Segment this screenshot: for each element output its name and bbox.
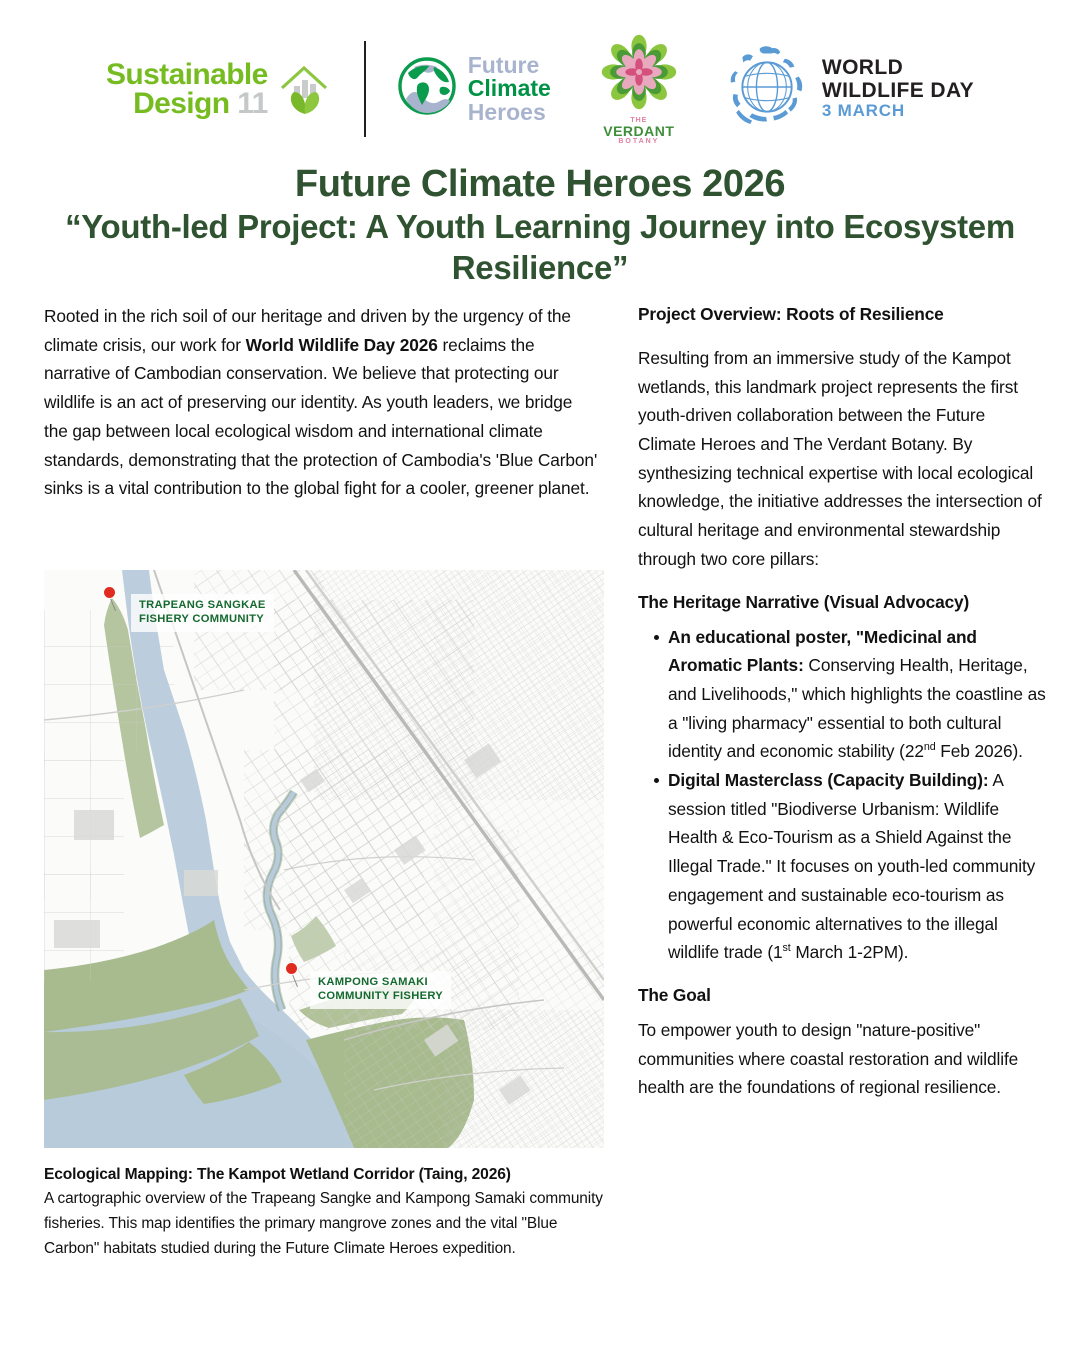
logo-divider [364, 41, 366, 137]
logo-the-verdant-botany: THE VERDANT BOTANY [601, 34, 723, 145]
map-graphic [44, 570, 604, 1148]
wwd-globe-animals-icon [723, 43, 811, 136]
overview-body: Resulting from an immersive study of the… [638, 344, 1046, 574]
page-title: Future Climate Heroes 2026 “Youth-led Pr… [60, 162, 1020, 289]
wwd-wordmark: WORLD WILDLIFE DAY 3 MARCH [822, 57, 974, 121]
logo-bar: Sustainable Design 11 [0, 34, 1080, 144]
heritage-heading: The Heritage Narrative (Visual Advocacy) [638, 590, 1046, 616]
intro-paragraph: Rooted in the rich soil of our heritage … [44, 302, 600, 503]
title-line-1: Future Climate Heroes 2026 [60, 162, 1020, 207]
fch-line3: Heroes [468, 101, 551, 124]
overview-heading: Project Overview: Roots of Resilience [638, 302, 1046, 328]
fch-line2: Climate [468, 77, 551, 100]
poster-page: Sustainable Design 11 [0, 0, 1080, 1350]
title-line-2: “Youth-led Project: A Youth Learning Jou… [60, 207, 1020, 289]
fch-wordmark: Future Climate Heroes [468, 54, 551, 124]
map-pin-trapeang-sangkae[interactable] [104, 587, 115, 598]
goal-heading: The Goal [638, 983, 1046, 1009]
sd-wordmark: Sustainable Design 11 [106, 60, 268, 119]
map-caption-body: A cartographic overview of the Trapeang … [44, 1187, 612, 1262]
wwd-line1: WORLD [822, 57, 974, 80]
fch-globe-icon [396, 55, 458, 122]
logo-sustainable-design-11: Sustainable Design 11 [106, 60, 360, 119]
bullet-digital-masterclass: Digital Masterclass (Capacity Building):… [638, 766, 1046, 967]
map-label-kampong-samaki: KAMPONG SAMAKI COMMUNITY FISHERY [310, 971, 451, 1009]
map-caption-heading: Ecological Mapping: The Kampot Wetland C… [44, 1164, 612, 1187]
map-caption: Ecological Mapping: The Kampot Wetland C… [44, 1164, 612, 1261]
heritage-bullet-list: An educational poster, "Medicinal and Ar… [638, 623, 1046, 967]
logo-world-wildlife-day: WORLD WILDLIFE DAY 3 MARCH [723, 43, 974, 136]
map-label-trapeang-sangkae: TRAPEANG SANGKAE FISHERY COMMUNITY [131, 594, 274, 632]
right-column: Project Overview: Roots of Resilience Re… [638, 302, 1046, 1102]
sustainable-design-leaf-icon [276, 60, 334, 118]
sd-line2-word: Design [133, 87, 229, 120]
wwd-line3: 3 MARCH [822, 102, 974, 120]
verdant-flower-icon [601, 34, 677, 115]
goal-body: To empower youth to design "nature-posit… [638, 1016, 1046, 1102]
sd-number: 11 [237, 87, 268, 120]
sd-line2: Design 11 [106, 89, 268, 118]
left-column: Rooted in the rich soil of our heritage … [44, 302, 600, 503]
pin-head [286, 963, 297, 974]
logo-future-climate-heroes: Future Climate Heroes [396, 54, 601, 124]
verdant-main: VERDANT [603, 124, 674, 138]
fch-line1: Future [468, 54, 551, 77]
pin-head [104, 587, 115, 598]
map-pin-kampong-samaki[interactable] [286, 963, 297, 974]
verdant-sub: BOTANY [603, 138, 674, 145]
verdant-caption: THE VERDANT BOTANY [603, 117, 674, 145]
bullet-educational-poster: An educational poster, "Medicinal and Ar… [638, 623, 1046, 767]
sd-line1: Sustainable [106, 60, 268, 89]
wwd-line2: WILDLIFE DAY [822, 80, 974, 103]
ecological-map [44, 570, 604, 1148]
